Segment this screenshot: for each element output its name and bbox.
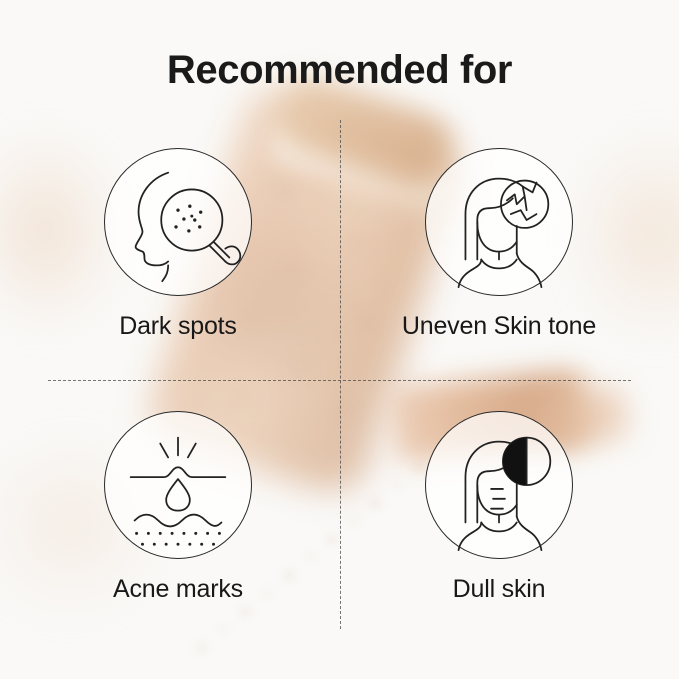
face-half-moon-dull-icon [425,411,573,559]
concern-item-acne-marks: Acne marks [8,411,348,604]
concern-item-dark-spots: Dark spots [8,148,348,341]
face-uneven-patch-icon [425,148,573,296]
concern-label: Uneven Skin tone [329,312,669,341]
concern-label: Dull skin [329,575,669,604]
concern-label: Acne marks [8,575,348,604]
recommended-for-panel: Recommended for [0,0,679,679]
page-title: Recommended for [0,48,679,93]
concern-item-dull-skin: Dull skin [329,411,669,604]
concern-item-uneven-skin-tone: Uneven Skin tone [329,148,669,341]
face-magnifier-spots-icon [104,148,252,296]
concern-label: Dark spots [8,312,348,341]
skin-cross-section-droplet-icon [104,411,252,559]
